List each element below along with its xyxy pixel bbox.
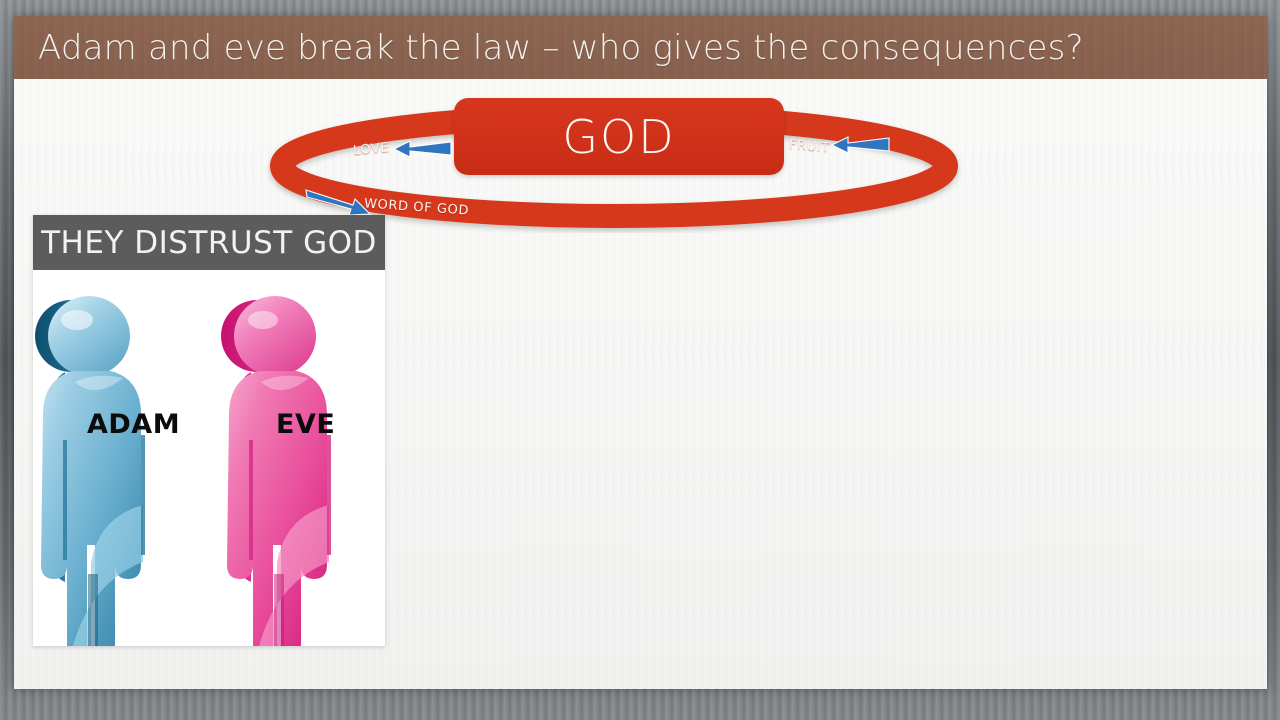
desktop-background: Adam and eve break the law – who gives t… [0,0,1280,720]
slide-canvas: Adam and eve break the law – who gives t… [14,16,1267,689]
ring-label-love: LOVE [352,140,389,158]
slide-title-bar: Adam and eve break the law – who gives t… [14,16,1267,79]
adam-and-eve-pictogram-icon [33,270,385,646]
picture-panel-header: THEY DISTRUST GOD [33,215,385,270]
picture-panel: THEY DISTRUST GOD [33,215,385,646]
arrow-left-icon [830,134,892,156]
figure-label-eve: EVE [276,409,335,440]
god-ring-diagram: GOD LOVE FRUIT WORD OF GOD [264,88,964,233]
slide-title: Adam and eve break the law – who gives t… [38,28,1084,68]
figure-label-adam: ADAM [87,409,180,440]
picture-panel-title: THEY DISTRUST GOD [41,225,377,261]
god-center-box: GOD [454,98,784,175]
picture-panel-body: ADAM EVE [33,270,385,646]
arrow-right-icon [304,188,374,218]
arrow-left-icon [392,138,454,160]
god-label: GOD [562,114,675,160]
